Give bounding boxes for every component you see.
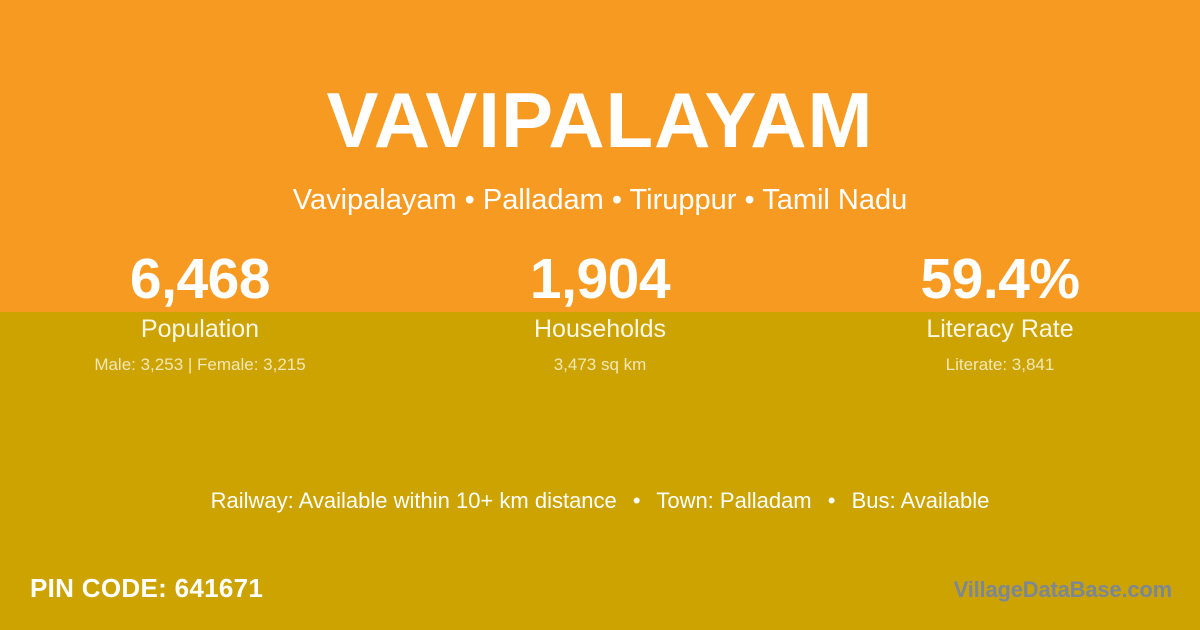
stat-households: 1,904 Households 3,473 sq km <box>400 246 800 386</box>
infra-separator-1: • <box>623 488 651 513</box>
infrastructure-line: Railway: Available within 10+ km distanc… <box>0 486 1200 516</box>
stat-label-population: Population <box>0 312 400 346</box>
stat-sub-literacy-rate: Literate: 3,841 <box>800 352 1200 378</box>
infra-bus: Bus: Available <box>852 488 990 513</box>
card-footer: PIN CODE: 641671 VillageDataBase.com <box>0 570 1200 618</box>
brand-watermark: VillageDataBase.com <box>954 574 1172 606</box>
stat-label-literacy-rate: Literacy Rate <box>800 312 1200 346</box>
statistics-row: 6,468 Population Male: 3,253 | Female: 3… <box>0 246 1200 386</box>
page-title: VAVIPALAYAM <box>0 78 1200 162</box>
stat-sub-population: Male: 3,253 | Female: 3,215 <box>0 352 400 378</box>
pin-code: PIN CODE: 641671 <box>30 570 263 606</box>
stat-value-literacy-rate: 59.4% <box>800 246 1200 312</box>
stat-literacy-rate: 59.4% Literacy Rate Literate: 3,841 <box>800 246 1200 386</box>
stat-sub-households: 3,473 sq km <box>400 352 800 378</box>
village-info-card: VAVIPALAYAM Vavipalayam • Palladam • Tir… <box>0 0 1200 630</box>
stat-value-population: 6,468 <box>0 246 400 312</box>
infra-railway: Railway: Available within 10+ km distanc… <box>211 488 617 513</box>
breadcrumb: Vavipalayam • Palladam • Tiruppur • Tami… <box>0 182 1200 218</box>
stat-population: 6,468 Population Male: 3,253 | Female: 3… <box>0 246 400 386</box>
stat-value-households: 1,904 <box>400 246 800 312</box>
infra-separator-2: • <box>818 488 846 513</box>
infra-town: Town: Palladam <box>656 488 811 513</box>
stat-label-households: Households <box>400 312 800 346</box>
